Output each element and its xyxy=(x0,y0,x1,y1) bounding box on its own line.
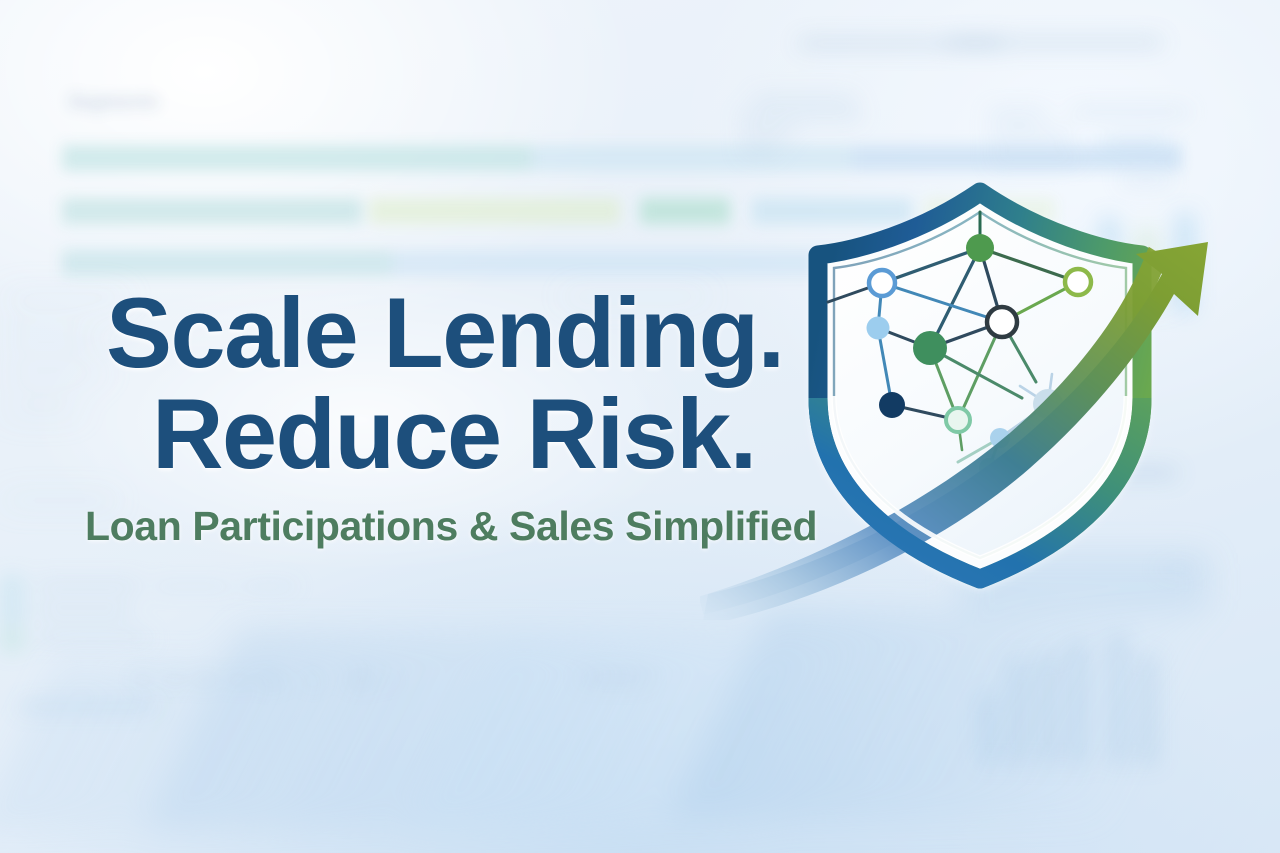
headline-line-2: Reduce Risk. xyxy=(106,383,806,484)
background-panel xyxy=(960,552,1210,612)
hero-banner: Segments xyxy=(0,0,1280,853)
hero-subheadline: Loan Participations & Sales Simplified xyxy=(85,503,817,550)
headline-line-1: Scale Lending. xyxy=(106,282,806,383)
hero-headline: Scale Lending. Reduce Risk. xyxy=(106,282,806,484)
